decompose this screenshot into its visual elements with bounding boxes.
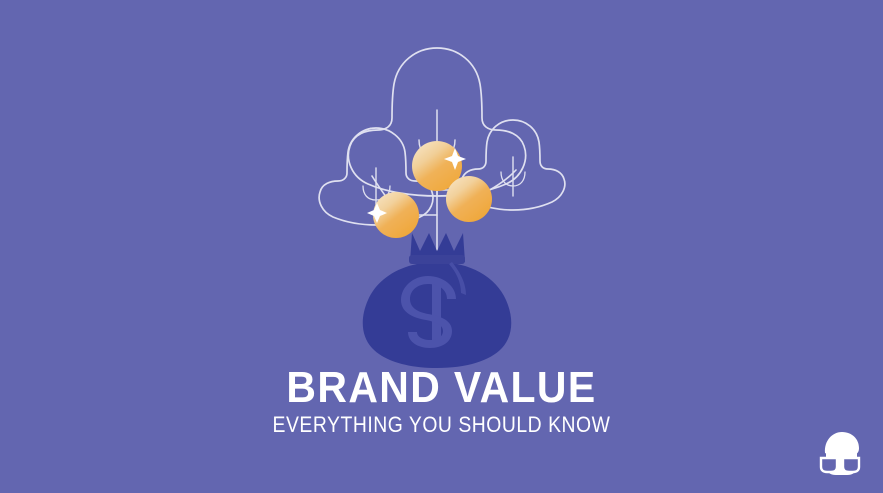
coin-bottom-left: [367, 192, 419, 238]
page-title: BRAND VALUE: [31, 366, 852, 410]
poster-canvas: BRAND VALUE EVERYTHING YOU SHOULD KNOW: [0, 0, 883, 493]
title-block: BRAND VALUE EVERYTHING YOU SHOULD KNOW: [0, 366, 883, 437]
coin-mid-right: [446, 176, 492, 222]
head-with-glasses-logo[interactable]: [812, 428, 868, 480]
money-bag: [363, 233, 511, 368]
page-subtitle: EVERYTHING YOU SHOULD KNOW: [53, 413, 830, 437]
